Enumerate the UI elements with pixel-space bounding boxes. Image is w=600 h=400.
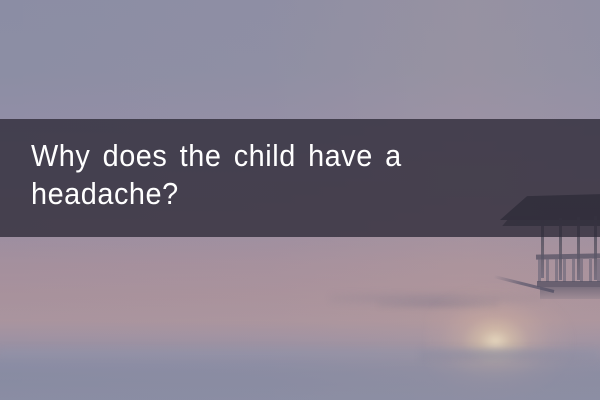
screenshot-root: Why does the child have a headache?: [0, 0, 600, 400]
caption-band: Why does the child have a headache?: [0, 119, 600, 237]
caption-text: Why does the child have a headache?: [31, 137, 542, 213]
railing-balusters: [538, 259, 600, 282]
bottom-haze-veil: [0, 354, 600, 400]
